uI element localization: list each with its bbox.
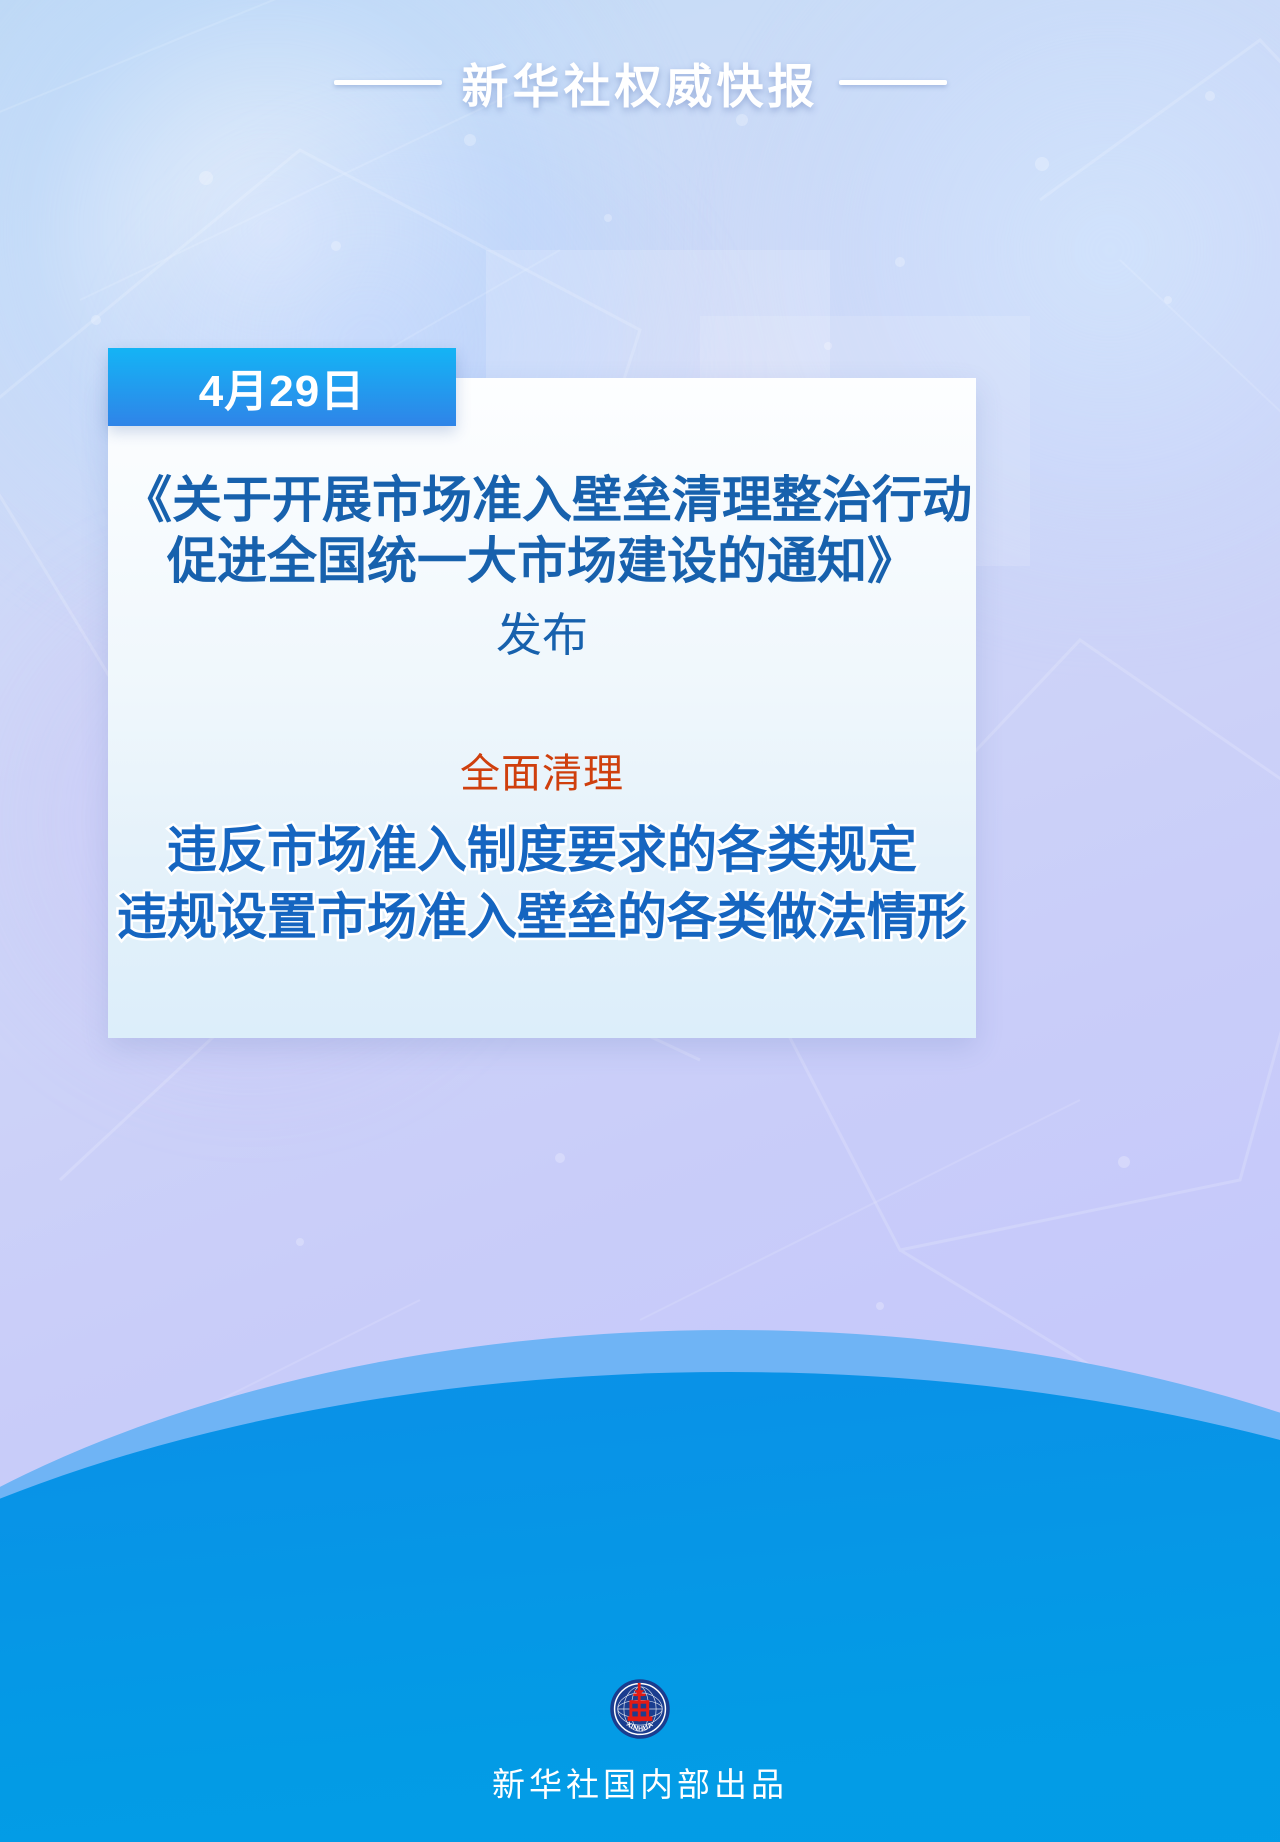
header-rule-right: [839, 80, 947, 85]
content-card: 《关于开展市场准入壁垒清理整治行动 促进全国统一大市场建设的通知》 发布 全面清…: [108, 378, 976, 1038]
document-title: 《关于开展市场准入壁垒清理整治行动 促进全国统一大市场建设的通知》: [108, 470, 976, 592]
bullet-item: 违规设置市场准入壁垒的各类做法情形: [108, 884, 976, 951]
footer: XINHUA 新华社国内部出品: [0, 1678, 1280, 1806]
footer-text: 新华社国内部出品: [0, 1758, 1280, 1806]
document-title-line-1: 《关于开展市场准入壁垒清理整治行动: [122, 470, 962, 531]
date-badge-label: 4月29日: [199, 355, 365, 419]
date-badge: 4月29日: [108, 348, 456, 426]
xinhua-logo-icon: XINHUA: [609, 1678, 671, 1740]
publish-status: 发布: [108, 608, 976, 663]
bullet-item: 违反市场准入制度要求的各类规定: [108, 817, 976, 884]
header: 新华社权威快报: [0, 48, 1280, 117]
bullet-list: 违反市场准入制度要求的各类规定 违规设置市场准入壁垒的各类做法情形: [108, 817, 976, 950]
header-title: 新华社权威快报: [462, 48, 819, 117]
poster-root: 新华社权威快报 《关于开展市场准入壁垒清理整治行动 促进全国统一大市场建设的通知…: [0, 0, 1280, 1842]
highlight-label: 全面清理: [108, 741, 976, 799]
header-rule-left: [334, 80, 442, 85]
document-title-line-2: 促进全国统一大市场建设的通知》: [122, 531, 962, 592]
